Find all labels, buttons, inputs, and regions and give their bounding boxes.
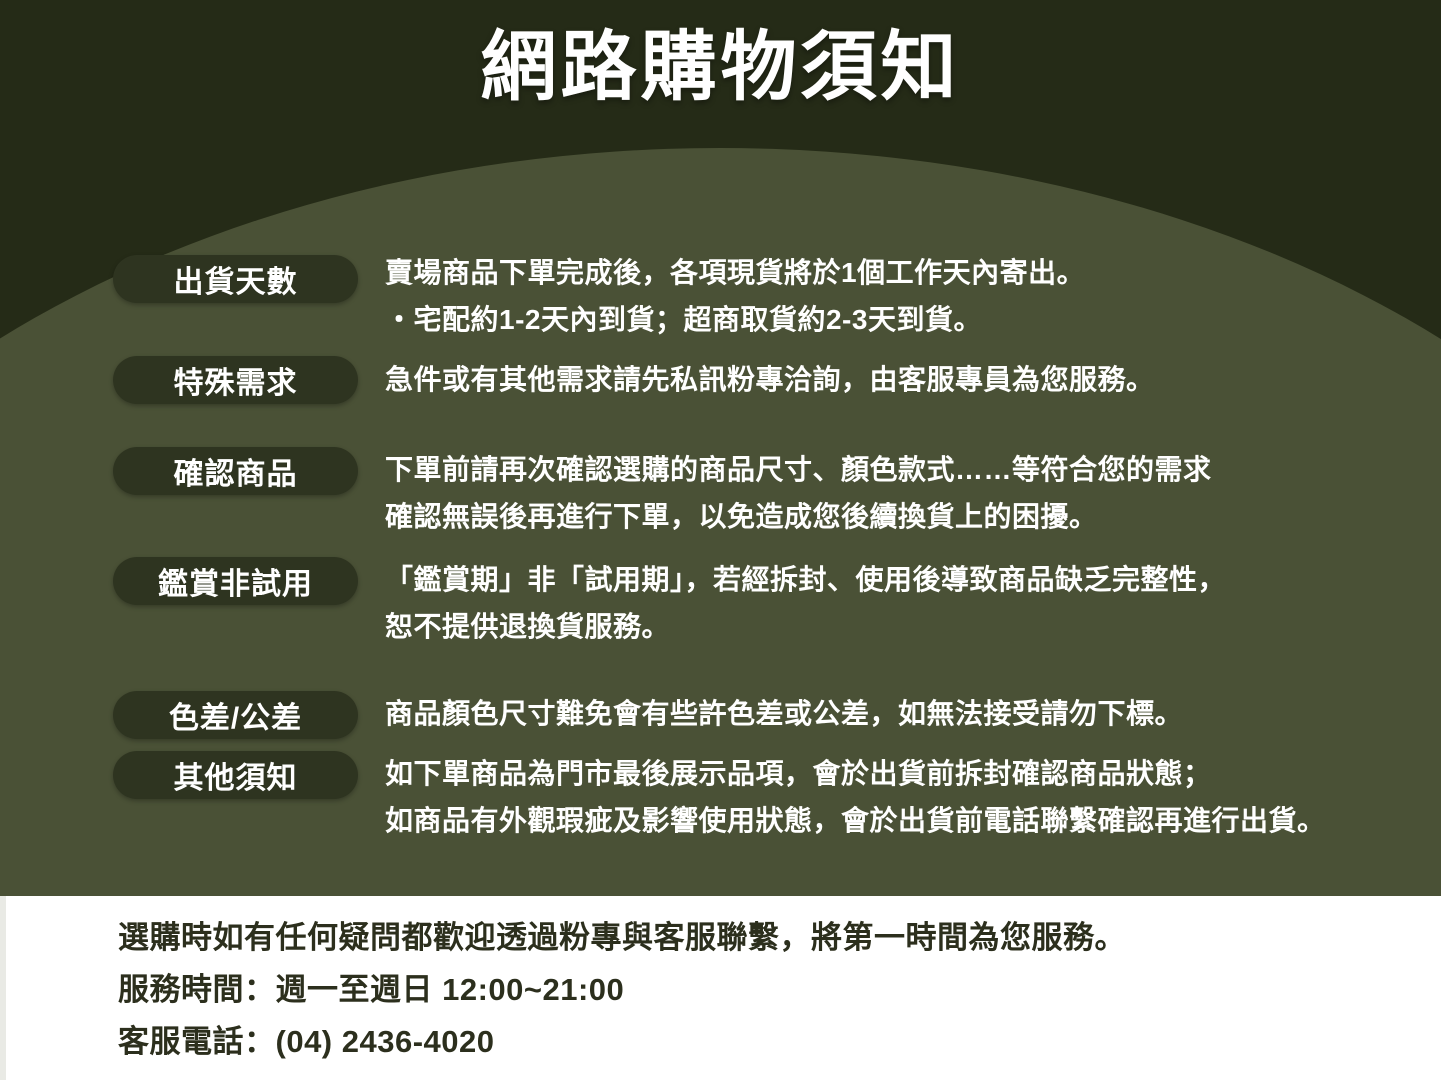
footer-line-contact-invite: 選購時如有任何疑問都歡迎透過粉專與客服聯繫，將第一時間為您服務。 — [118, 912, 1126, 964]
section-label-color-size-tolerance: 色差/公差 — [113, 691, 358, 739]
section-label-confirm-product: 確認商品 — [113, 447, 358, 495]
body-line: 「鑑賞期」非「試用期」，若經拆封、使用後導致商品缺乏完整性， — [385, 556, 1415, 603]
section-label-shipping-days: 出貨天數 — [113, 255, 358, 303]
section-body-shipping-days: 賣場商品下單完成後，各項現貨將於1個工作天內寄出。 ・宅配約1-2天內到貨；超商… — [385, 249, 1415, 343]
section-label-inspection-not-trial: 鑑賞非試用 — [113, 557, 358, 605]
section-body-confirm-product: 下單前請再次確認選購的商品尺寸、顏色款式……等符合您的需求 確認無誤後再進行下單… — [385, 446, 1415, 540]
body-line: 如商品有外觀瑕疵及影響使用狀態，會於出貨前電話聯繫確認再進行出貨。 — [385, 797, 1415, 844]
body-line: 確認無誤後再進行下單，以免造成您後續換貨上的困擾。 — [385, 493, 1415, 540]
body-line: 如下單商品為門市最後展示品項，會於出貨前拆封確認商品狀態； — [385, 750, 1415, 797]
notice-sections: 出貨天數 賣場商品下單完成後，各項現貨將於1個工作天內寄出。 ・宅配約1-2天內… — [0, 0, 1441, 896]
section-body-other-notes: 如下單商品為門市最後展示品項，會於出貨前拆封確認商品狀態； 如商品有外觀瑕疵及影… — [385, 750, 1415, 844]
body-line: 賣場商品下單完成後，各項現貨將於1個工作天內寄出。 — [385, 249, 1415, 296]
footer-panel: 選購時如有任何疑問都歡迎透過粉專與客服聯繫，將第一時間為您服務。 服務時間：週一… — [0, 896, 1441, 1080]
body-line: 恕不提供退換貨服務。 — [385, 603, 1415, 650]
body-line: 商品顏色尺寸難免會有些許色差或公差，如無法接受請勿下標。 — [385, 690, 1415, 737]
notice-page: 網路購物須知 出貨天數 賣場商品下單完成後，各項現貨將於1個工作天內寄出。 ・宅… — [0, 0, 1441, 1080]
section-body-inspection-not-trial: 「鑑賞期」非「試用期」，若經拆封、使用後導致商品缺乏完整性， 恕不提供退換貨服務… — [385, 556, 1415, 650]
section-body-color-size-tolerance: 商品顏色尺寸難免會有些許色差或公差，如無法接受請勿下標。 — [385, 690, 1415, 737]
body-line: 急件或有其他需求請先私訊粉專洽詢，由客服專員為您服務。 — [385, 356, 1415, 403]
section-label-other-notes: 其他須知 — [113, 751, 358, 799]
section-label-special-requests: 特殊需求 — [113, 356, 358, 404]
footer-line-service-hours: 服務時間：週一至週日 12:00~21:00 — [118, 964, 1126, 1016]
body-line: ・宅配約1-2天內到貨；超商取貨約2-3天到貨。 — [385, 296, 1415, 343]
footer-contact-info: 選購時如有任何疑問都歡迎透過粉專與客服聯繫，將第一時間為您服務。 服務時間：週一… — [118, 912, 1126, 1068]
footer-line-service-phone: 客服電話：(04) 2436-4020 — [118, 1016, 1126, 1068]
footer-left-rule — [0, 896, 6, 1080]
body-line: 下單前請再次確認選購的商品尺寸、顏色款式……等符合您的需求 — [385, 446, 1415, 493]
section-body-special-requests: 急件或有其他需求請先私訊粉專洽詢，由客服專員為您服務。 — [385, 356, 1415, 403]
